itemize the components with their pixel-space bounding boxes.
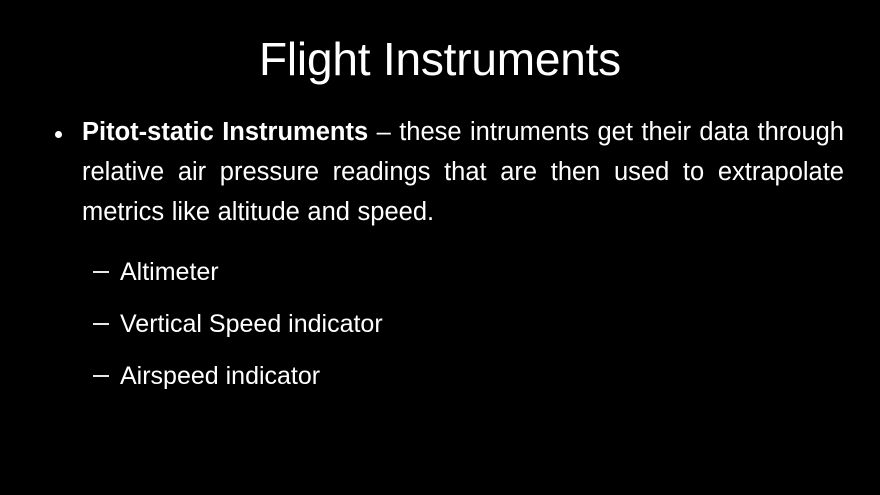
bullet-dot-icon — [55, 131, 62, 138]
bullet-item-vertical-speed-indicator: Vertical Speed indicator — [44, 298, 844, 350]
bullet-item-altimeter: Altimeter — [44, 246, 844, 298]
bullet-item-level1: Pitot-static Instruments – these intrume… — [44, 112, 844, 232]
dash-icon — [93, 271, 109, 273]
bullet-level1-lead-term: Pitot-static Instruments — [82, 118, 368, 146]
bullet-item-label: Altimeter — [120, 258, 219, 286]
bullet-item-airspeed-indicator: Airspeed indicator — [44, 350, 844, 402]
bullet-item-label: Vertical Speed indicator — [120, 310, 383, 338]
bullet-sublist: Altimeter Vertical Speed indicator Airsp… — [44, 246, 844, 402]
dash-icon — [93, 323, 109, 325]
presentation-slide: Flight Instruments Pitot-static Instrume… — [0, 0, 880, 495]
bullet-level1-paragraph: Pitot-static Instruments – these intrume… — [82, 112, 844, 232]
slide-body: Pitot-static Instruments – these intrume… — [44, 112, 844, 402]
slide-title: Flight Instruments — [0, 31, 880, 87]
bullet-item-label: Airspeed indicator — [120, 362, 320, 390]
dash-icon — [93, 375, 109, 377]
